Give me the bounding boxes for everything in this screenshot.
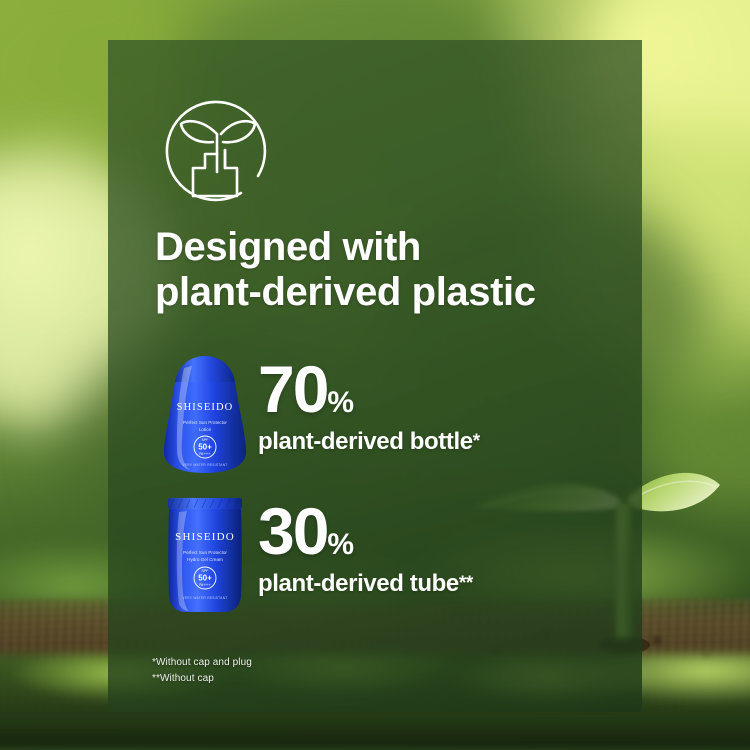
svg-text:SHISEIDO: SHISEIDO: [175, 531, 235, 543]
svg-text:VERY WATER RESISTANT: VERY WATER RESISTANT: [182, 596, 227, 600]
stat-text-tube: 30% plant-derived tube**: [258, 500, 473, 598]
promotional-image: Designed with plant-derived plastic: [0, 0, 750, 750]
svg-text:SPF: SPF: [202, 438, 210, 442]
sunscreen-lotion-bottle-image: SHISEIDO Perfect Sun Protector Lotion SP…: [150, 352, 260, 477]
svg-text:Perfect Sun Protector: Perfect Sun Protector: [183, 420, 227, 425]
stat-label-tube: plant-derived tube**: [258, 570, 473, 598]
percent-sign: %: [327, 386, 354, 419]
svg-text:SHISEIDO: SHISEIDO: [177, 402, 234, 413]
svg-text:50+: 50+: [198, 574, 212, 583]
svg-text:SPF: SPF: [202, 569, 210, 573]
svg-text:50+: 50+: [198, 443, 212, 452]
headline-line-2: plant-derived plastic: [155, 270, 625, 315]
footnote-1: *Without cap and plug: [152, 655, 252, 671]
footnotes: *Without cap and plug **Without cap: [152, 655, 252, 686]
svg-text:Hydro Gel Cream: Hydro Gel Cream: [187, 557, 223, 562]
stat-text-bottle: 70% plant-derived bottle*: [258, 358, 480, 456]
stat-value-bottle: 70%: [258, 358, 480, 421]
plant-sprout-in-pot-icon: [155, 90, 279, 214]
svg-text:VERY WATER RESISTANT: VERY WATER RESISTANT: [182, 463, 227, 467]
page-title: Designed with plant-derived plastic: [155, 225, 625, 315]
stat-value-tube: 30%: [258, 500, 473, 563]
stat-label-bottle: plant-derived bottle*: [258, 428, 480, 456]
footnote-2: **Without cap: [152, 671, 252, 687]
headline-line-1: Designed with: [155, 225, 421, 269]
footnote-marker: *: [473, 431, 480, 452]
svg-text:PA++++: PA++++: [199, 583, 211, 587]
percent-sign: %: [327, 528, 354, 561]
footnote-marker: **: [459, 573, 473, 594]
svg-text:Lotion: Lotion: [199, 427, 212, 432]
content-panel: Designed with plant-derived plastic: [108, 40, 642, 712]
svg-text:Perfect Sun Protector: Perfect Sun Protector: [183, 550, 227, 555]
sunscreen-hydro-gel-cream-tube-image: SHISEIDO Perfect Sun Protector Hydro Gel…: [150, 492, 260, 617]
svg-text:PA++++: PA++++: [199, 452, 211, 456]
